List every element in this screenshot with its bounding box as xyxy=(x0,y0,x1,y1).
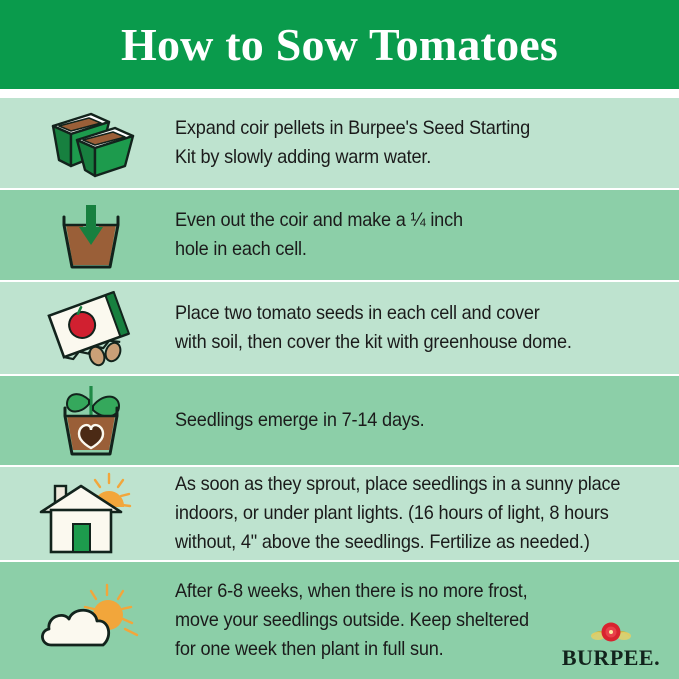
steps-list: Expand coir pellets in Burpee's Seed Sta… xyxy=(0,98,679,679)
step-6-icon-cell xyxy=(0,579,175,663)
step-row-1: Expand coir pellets in Burpee's Seed Sta… xyxy=(0,98,679,190)
infographic-poster: How to Sow Tomatoes xyxy=(0,0,679,679)
step-1-text-cell: Expand coir pellets in Burpee's Seed Sta… xyxy=(175,114,679,172)
step-text: Expand coir pellets in Burpee's Seed Sta… xyxy=(175,114,631,172)
seedling-in-pot-icon xyxy=(45,378,137,464)
step-2-text-cell: Even out the coir and make a ¼ inch hole… xyxy=(175,206,679,264)
step-1-icon-cell xyxy=(0,104,175,182)
seed-tray-icon xyxy=(39,104,143,182)
step-row-6: After 6-8 weeks, when there is no more f… xyxy=(0,562,679,679)
page-title: How to Sow Tomatoes xyxy=(121,22,558,68)
step-5-text-cell: As soon as they sprout, place seedlings … xyxy=(175,470,679,557)
header-banner: How to Sow Tomatoes xyxy=(0,0,679,89)
step-4-icon-cell xyxy=(0,378,175,464)
step-4-text-cell: Seedlings emerge in 7-14 days. xyxy=(175,406,679,435)
pot-with-down-arrow-icon xyxy=(46,195,136,275)
step-row-4: Seedlings emerge in 7-14 days. xyxy=(0,376,679,467)
burpee-logo: BURPEE. xyxy=(557,620,665,669)
step-text: As soon as they sprout, place seedlings … xyxy=(175,470,631,557)
step-3-text-cell: Place two tomato seeds in each cell and … xyxy=(175,299,679,357)
step-2-icon-cell xyxy=(0,195,175,275)
step-row-2: Even out the coir and make a ¼ inch hole… xyxy=(0,190,679,282)
house-with-sun-icon xyxy=(35,470,147,558)
step-3-icon-cell xyxy=(0,286,175,370)
step-text: Place two tomato seeds in each cell and … xyxy=(175,299,631,357)
step-row-3: Place two tomato seeds in each cell and … xyxy=(0,282,679,376)
burpee-wordmark: BURPEE. xyxy=(557,647,665,669)
header-divider xyxy=(0,89,679,98)
step-5-icon-cell xyxy=(0,470,175,558)
cloud-with-sun-icon xyxy=(33,579,149,663)
step-text: Even out the coir and make a ¼ inch hole… xyxy=(175,206,631,264)
step-text: Seedlings emerge in 7-14 days. xyxy=(175,406,631,435)
seed-packet-icon xyxy=(37,286,145,370)
step-row-5: As soon as they sprout, place seedlings … xyxy=(0,467,679,562)
